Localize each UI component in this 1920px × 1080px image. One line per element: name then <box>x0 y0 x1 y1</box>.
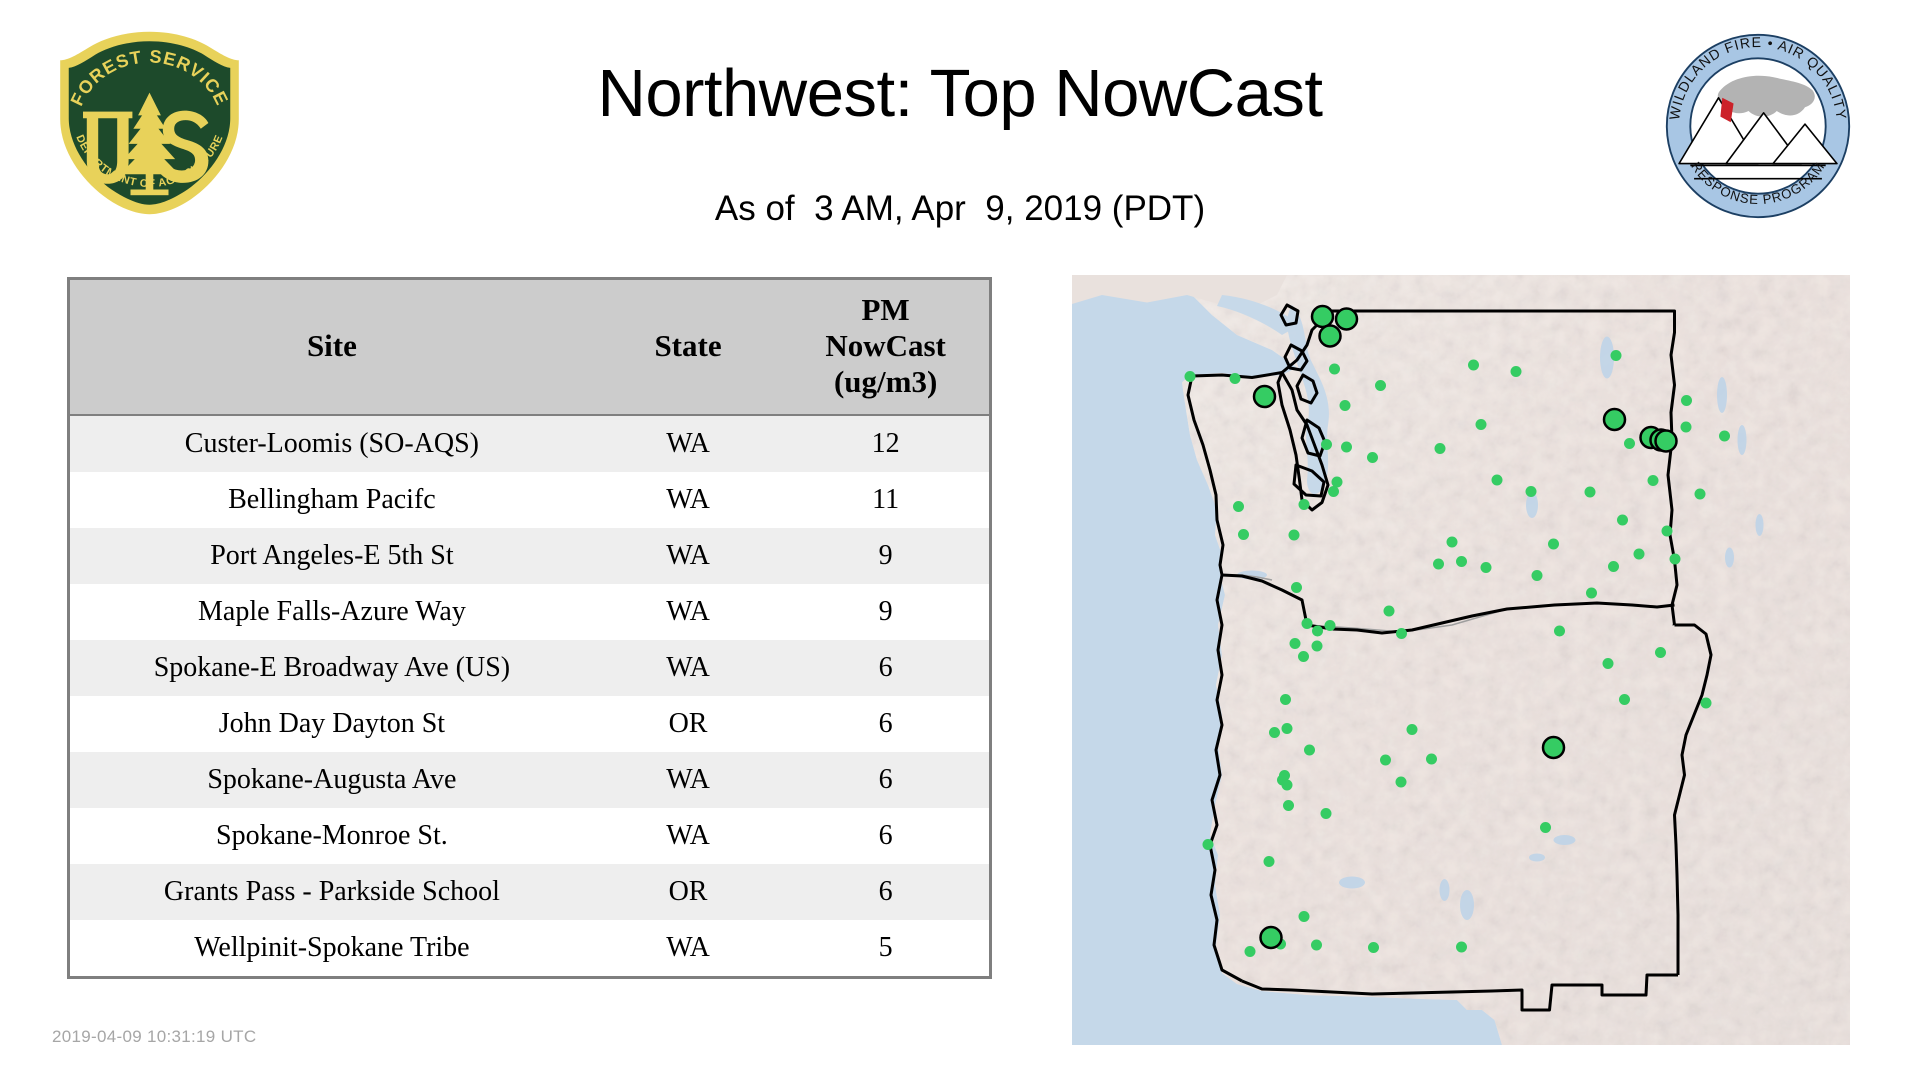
monitor-marker[interactable] <box>1447 537 1458 548</box>
pacific-northwest-monitor-map[interactable] <box>1072 275 1850 1045</box>
column-header-site: Site <box>70 280 594 415</box>
monitor-marker[interactable] <box>1291 582 1302 593</box>
monitor-marker[interactable] <box>1299 911 1310 922</box>
monitor-marker[interactable] <box>1481 562 1492 573</box>
monitor-marker[interactable] <box>1264 856 1275 867</box>
monitor-marker[interactable] <box>1624 438 1635 449</box>
monitor-marker[interactable] <box>1289 530 1300 541</box>
top-monitor-marker[interactable] <box>1261 927 1282 948</box>
state-cell: OR <box>594 696 782 752</box>
monitor-marker[interactable] <box>1619 694 1630 705</box>
monitor-marker[interactable] <box>1695 489 1706 500</box>
pm-header-line-2: NowCast <box>786 328 985 364</box>
monitor-marker[interactable] <box>1332 477 1343 488</box>
table-header-row: Site State PM NowCast (ug/m3) <box>70 280 989 415</box>
monitor-marker[interactable] <box>1396 628 1407 639</box>
site-cell: Maple Falls-Azure Way <box>70 584 594 640</box>
monitor-marker[interactable] <box>1540 822 1551 833</box>
monitor-marker[interactable] <box>1282 780 1293 791</box>
monitor-marker[interactable] <box>1312 626 1323 637</box>
monitor-marker[interactable] <box>1511 366 1522 377</box>
table-row: Custer-Loomis (SO-AQS)WA12 <box>70 415 989 472</box>
monitor-marker[interactable] <box>1269 727 1280 738</box>
monitor-marker[interactable] <box>1299 499 1310 510</box>
table-row: Maple Falls-Azure WayWA9 <box>70 584 989 640</box>
monitor-marker[interactable] <box>1304 745 1315 756</box>
monitor-marker[interactable] <box>1283 800 1294 811</box>
monitor-marker[interactable] <box>1532 570 1543 581</box>
monitor-marker[interactable] <box>1280 694 1291 705</box>
site-cell: Grants Pass - Parkside School <box>70 864 594 920</box>
monitor-marker[interactable] <box>1245 946 1256 957</box>
monitor-marker[interactable] <box>1433 559 1444 570</box>
monitor-marker[interactable] <box>1325 620 1336 631</box>
table-row: John Day Dayton StOR6 <box>70 696 989 752</box>
monitor-marker[interactable] <box>1302 618 1313 629</box>
pm-cell: 9 <box>782 584 989 640</box>
pm-cell: 6 <box>782 752 989 808</box>
pm-cell: 6 <box>782 808 989 864</box>
pm-cell: 9 <box>782 528 989 584</box>
monitor-marker[interactable] <box>1396 777 1407 788</box>
monitor-marker[interactable] <box>1476 419 1487 430</box>
monitor-marker[interactable] <box>1585 487 1596 498</box>
monitor-marker[interactable] <box>1185 371 1196 382</box>
nowcast-table: Site State PM NowCast (ug/m3) Custer-Loo… <box>67 277 992 979</box>
monitor-marker[interactable] <box>1603 658 1614 669</box>
monitor-marker[interactable] <box>1719 431 1730 442</box>
monitor-marker[interactable] <box>1375 380 1386 391</box>
top-monitor-marker[interactable] <box>1320 326 1341 347</box>
top-monitor-marker[interactable] <box>1656 431 1677 452</box>
monitor-marker[interactable] <box>1492 475 1503 486</box>
page-subtitle: As of 3 AM, Apr 9, 2019 (PDT) <box>260 188 1660 230</box>
monitor-marker[interactable] <box>1548 539 1559 550</box>
monitor-marker[interactable] <box>1321 439 1332 450</box>
wfaqrp-seal-logo: WILDLAND FIRE • AIR QUALITY RESPONSE PRO… <box>1664 32 1852 220</box>
table-row: Spokane-E Broadway Ave (US)WA6 <box>70 640 989 696</box>
pm-cell: 12 <box>782 415 989 472</box>
state-cell: WA <box>594 528 782 584</box>
monitor-marker[interactable] <box>1407 724 1418 735</box>
state-cell: OR <box>594 864 782 920</box>
site-cell: Bellingham Pacifc <box>70 472 594 528</box>
top-monitor-marker[interactable] <box>1604 409 1625 430</box>
terrain-landmass <box>1182 275 1850 1045</box>
monitor-marker[interactable] <box>1435 443 1446 454</box>
pm-cell: 5 <box>782 920 989 976</box>
state-cell: WA <box>594 920 782 976</box>
monitor-marker[interactable] <box>1230 373 1241 384</box>
monitor-marker[interactable] <box>1617 515 1628 526</box>
monitor-marker[interactable] <box>1456 556 1467 567</box>
monitor-marker[interactable] <box>1298 651 1309 662</box>
column-header-state: State <box>594 280 782 415</box>
table-row: Port Angeles-E 5th StWA9 <box>70 528 989 584</box>
monitor-marker[interactable] <box>1311 940 1322 951</box>
table-row: Spokane-Monroe St.WA6 <box>70 808 989 864</box>
monitor-marker[interactable] <box>1279 770 1290 781</box>
monitor-marker[interactable] <box>1670 554 1681 565</box>
monitor-marker[interactable] <box>1384 606 1395 617</box>
monitor-marker[interactable] <box>1634 549 1645 560</box>
render-timestamp: 2019-04-09 10:31:19 UTC <box>52 1027 256 1047</box>
monitor-marker[interactable] <box>1203 839 1214 850</box>
monitor-marker[interactable] <box>1426 754 1437 765</box>
pm-header-line-1: PM <box>786 292 985 328</box>
site-cell: Spokane-E Broadway Ave (US) <box>70 640 594 696</box>
monitor-marker[interactable] <box>1282 723 1293 734</box>
top-monitor-marker[interactable] <box>1543 737 1564 758</box>
pm-cell: 6 <box>782 696 989 752</box>
site-cell: John Day Dayton St <box>70 696 594 752</box>
top-monitor-marker[interactable] <box>1312 306 1333 327</box>
top-monitor-marker[interactable] <box>1254 386 1275 407</box>
monitor-marker[interactable] <box>1526 486 1537 497</box>
monitor-marker[interactable] <box>1648 475 1659 486</box>
top-monitor-marker[interactable] <box>1336 309 1357 330</box>
monitor-marker[interactable] <box>1367 452 1378 463</box>
monitor-marker[interactable] <box>1586 588 1597 599</box>
monitor-marker[interactable] <box>1468 360 1479 371</box>
monitor-marker[interactable] <box>1340 400 1351 411</box>
state-cell: WA <box>594 472 782 528</box>
table-row: Spokane-Augusta AveWA6 <box>70 752 989 808</box>
site-cell: Port Angeles-E 5th St <box>70 528 594 584</box>
site-cell: Wellpinit-Spokane Tribe <box>70 920 594 976</box>
monitor-marker[interactable] <box>1554 626 1565 637</box>
site-cell: Custer-Loomis (SO-AQS) <box>70 415 594 472</box>
pm-cell: 6 <box>782 864 989 920</box>
monitor-marker[interactable] <box>1681 422 1692 433</box>
monitor-marker[interactable] <box>1368 942 1379 953</box>
page-title: Northwest: Top NowCast <box>260 56 1660 132</box>
pm-header-line-3: (ug/m3) <box>786 364 985 400</box>
pm-cell: 6 <box>782 640 989 696</box>
monitor-marker[interactable] <box>1611 350 1622 361</box>
usfs-shield-logo: FOREST SERVICE DEPARTMENT OF AGRICULTURE <box>52 28 247 218</box>
monitor-marker[interactable] <box>1238 529 1249 540</box>
column-header-pm-nowcast: PM NowCast (ug/m3) <box>782 280 989 415</box>
state-cell: WA <box>594 752 782 808</box>
monitor-marker[interactable] <box>1681 395 1692 406</box>
pm-cell: 11 <box>782 472 989 528</box>
monitor-marker[interactable] <box>1233 501 1244 512</box>
state-cell: WA <box>594 584 782 640</box>
monitor-marker[interactable] <box>1341 442 1352 453</box>
monitor-marker[interactable] <box>1321 808 1332 819</box>
monitor-marker[interactable] <box>1312 641 1323 652</box>
state-cell: WA <box>594 415 782 472</box>
state-cell: WA <box>594 640 782 696</box>
table-row: Bellingham PacifcWA11 <box>70 472 989 528</box>
monitor-marker[interactable] <box>1662 526 1673 537</box>
monitor-marker[interactable] <box>1380 755 1391 766</box>
monitor-marker[interactable] <box>1608 561 1619 572</box>
monitor-marker[interactable] <box>1328 486 1339 497</box>
monitor-marker[interactable] <box>1329 364 1340 375</box>
monitor-marker[interactable] <box>1655 647 1666 658</box>
table-row: Wellpinit-Spokane TribeWA5 <box>70 920 989 976</box>
site-cell: Spokane-Monroe St. <box>70 808 594 864</box>
site-cell: Spokane-Augusta Ave <box>70 752 594 808</box>
state-cell: WA <box>594 808 782 864</box>
monitor-marker[interactable] <box>1701 698 1712 709</box>
monitor-marker[interactable] <box>1290 638 1301 649</box>
table-row: Grants Pass - Parkside SchoolOR6 <box>70 864 989 920</box>
monitor-marker[interactable] <box>1456 942 1467 953</box>
